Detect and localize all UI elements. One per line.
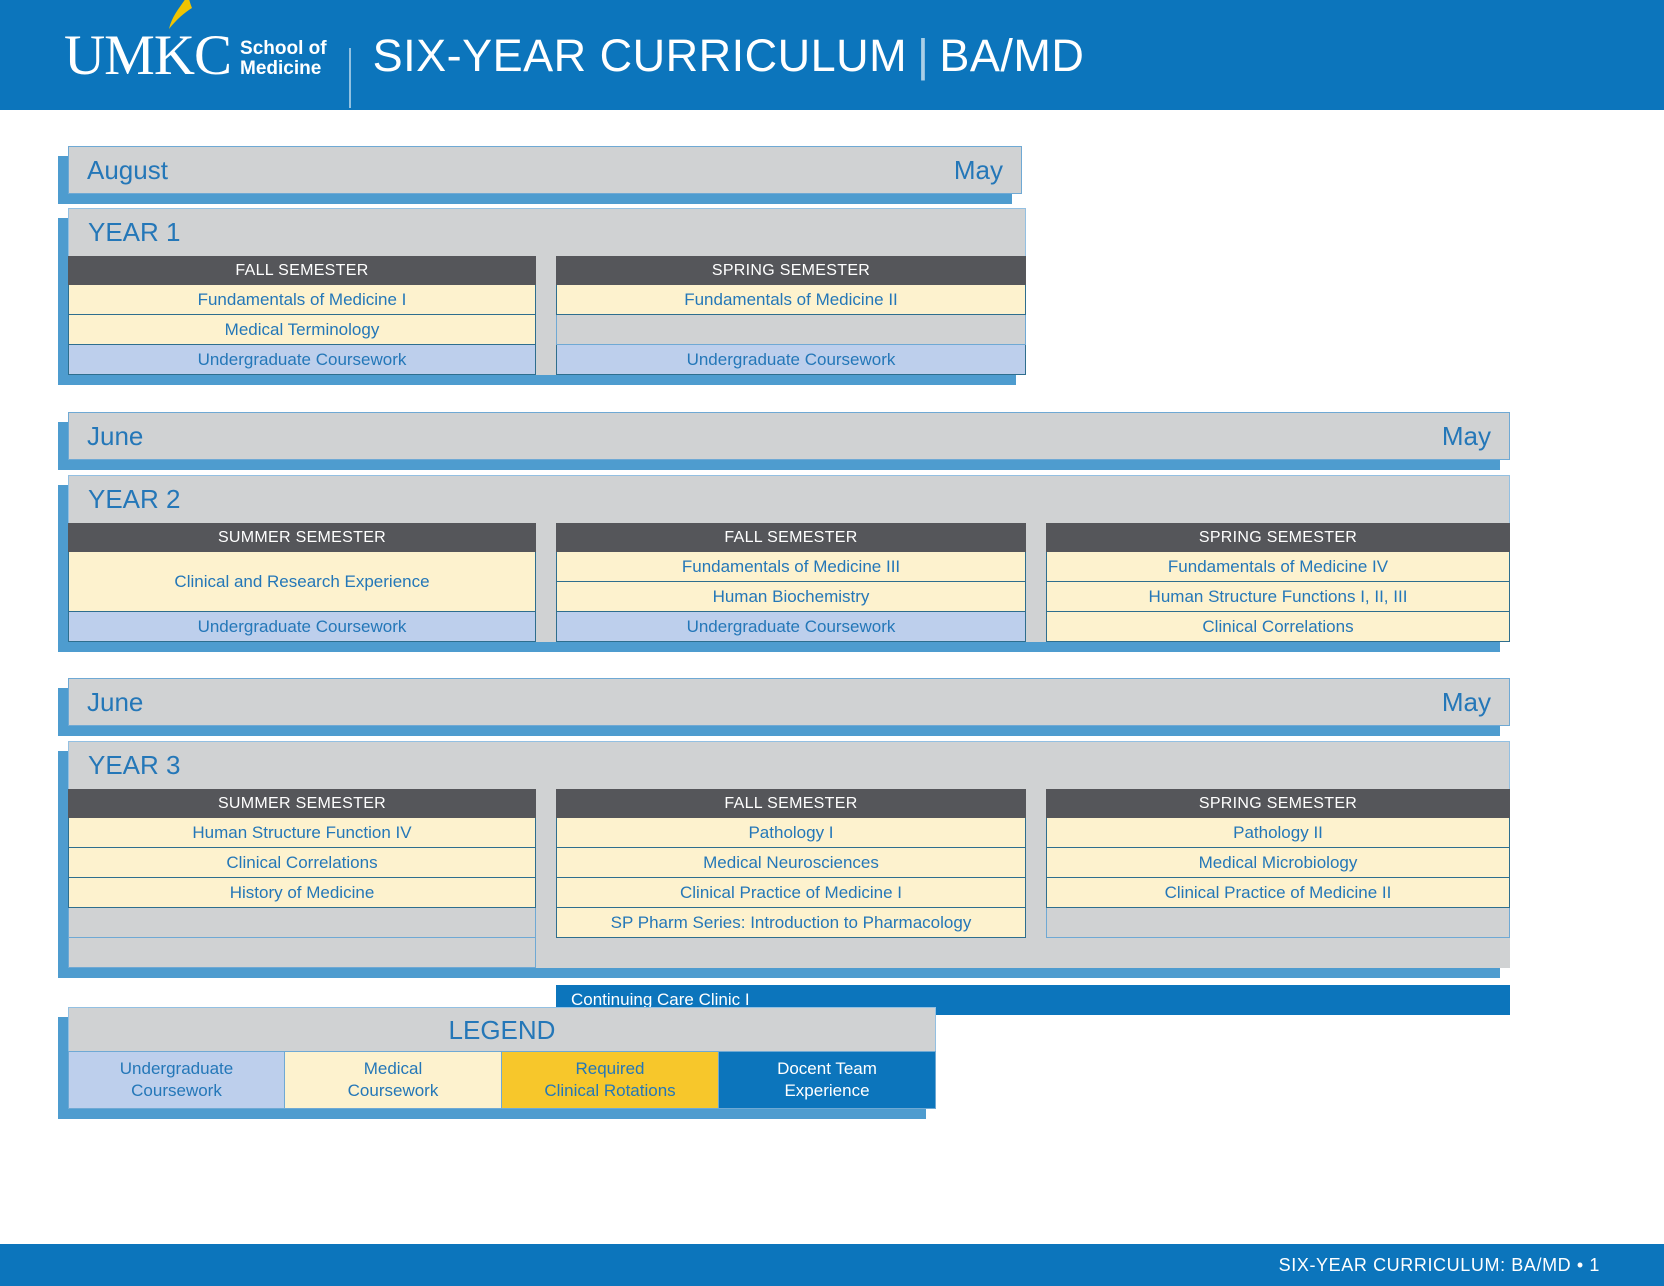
course-cell: Fundamentals of Medicine III [556,552,1026,582]
course-cell: Clinical and Research Experience [68,552,536,612]
year-label-header: YEAR 3 [68,741,1510,789]
legend-swatch-row: Undergraduate Coursework Medical Coursew… [68,1051,936,1109]
legend-item-docent-team-experience: Docent Team Experience [719,1051,936,1109]
semester-header: SPRING SEMESTER [556,256,1026,285]
legend-label-line1: Medical [364,1058,423,1080]
logo-subtitle: School of Medicine [240,39,327,79]
legend-label-line2: Clinical Rotations [544,1080,675,1102]
course-cell: Human Biochemistry [556,582,1026,612]
semester-column-spring: SPRING SEMESTER Fundamentals of Medicine… [556,256,1026,375]
legend-title: LEGEND [68,1007,936,1051]
header-divider [349,48,351,108]
page-title-separator: | [907,30,939,81]
legend-item-required-clinical-rotations: Required Clinical Rotations [502,1051,719,1109]
timeline-bar-year-1: August May [68,146,1022,194]
course-cell: Undergraduate Coursework [556,612,1026,642]
legend-item-undergraduate-coursework: Undergraduate Coursework [68,1051,285,1109]
course-cell: Medical Microbiology [1046,848,1510,878]
logo-subtitle-line1: School of [240,39,327,59]
year-label: YEAR 1 [88,217,181,248]
course-cell: Fundamentals of Medicine I [68,285,536,315]
semester-column-summer: SUMMER SEMESTER Human Structure Function… [68,789,536,968]
legend-label-line1: Docent Team [777,1058,877,1080]
timeline-start-month: June [87,421,143,452]
page-header: UMKC School of Medicine SIX-YEAR CURRICU… [0,0,1664,110]
semester-header: SUMMER SEMESTER [68,523,536,552]
course-cell: Pathology II [1046,818,1510,848]
page-title: SIX-YEAR CURRICULUM|BA/MD [373,33,1085,78]
column-gap [1026,523,1046,642]
course-cell: Medical Terminology [68,315,536,345]
legend-label-line1: Required [576,1058,645,1080]
legend-label-line2: Experience [784,1080,869,1102]
column-gap [536,789,556,968]
semester-header: FALL SEMESTER [556,789,1026,818]
page-title-main: SIX-YEAR CURRICULUM [373,30,908,81]
legend-label-line1: Undergraduate [120,1058,233,1080]
column-gap [536,523,556,642]
semester-column-spring: SPRING SEMESTER Fundamentals of Medicine… [1046,523,1510,642]
empty-cell [1046,908,1510,938]
semester-columns: SUMMER SEMESTER Clinical and Research Ex… [68,523,1510,642]
year-label-header: YEAR 1 [68,208,1026,256]
semester-header: FALL SEMESTER [68,256,536,285]
year-label-header: YEAR 2 [68,475,1510,523]
empty-cell [556,315,1026,345]
semester-column-summer: SUMMER SEMESTER Clinical and Research Ex… [68,523,536,642]
column-gap [1026,789,1046,968]
page-title-suffix: BA/MD [939,30,1084,81]
course-cell: Clinical Practice of Medicine II [1046,878,1510,908]
logo-umkc-text: UMKC [64,27,231,84]
year-block-1: YEAR 1 FALL SEMESTER Fundamentals of Med… [68,208,1026,375]
course-cell: Pathology I [556,818,1026,848]
legend-item-medical-coursework: Medical Coursework [285,1051,502,1109]
year-label: YEAR 3 [88,750,181,781]
semester-column-spring: SPRING SEMESTER Pathology II Medical Mic… [1046,789,1510,968]
legend-label-line2: Coursework [131,1080,222,1102]
course-cell: Fundamentals of Medicine IV [1046,552,1510,582]
semester-header: FALL SEMESTER [556,523,1026,552]
course-cell: Medical Neurosciences [556,848,1026,878]
umkc-logo: UMKC School of Medicine [64,27,327,84]
course-cell: Clinical Correlations [1046,612,1510,642]
course-cell: Undergraduate Coursework [556,345,1026,375]
timeline-end-month: May [1442,421,1491,452]
course-cell: Clinical Correlations [68,848,536,878]
semester-column-fall: FALL SEMESTER Pathology I Medical Neuros… [556,789,1026,968]
course-cell: Human Structure Functions I, II, III [1046,582,1510,612]
course-cell: SP Pharm Series: Introduction to Pharmac… [556,908,1026,938]
legend-label-line2: Coursework [348,1080,439,1102]
course-cell: History of Medicine [68,878,536,908]
semester-columns: SUMMER SEMESTER Human Structure Function… [68,789,1510,968]
year-block-3: YEAR 3 SUMMER SEMESTER Human Structure F… [68,741,1510,968]
timeline-bar-year-3: June May [68,678,1510,726]
logo-subtitle-line2: Medicine [240,59,327,79]
footer-text: SIX-YEAR CURRICULUM: BA/MD • 1 [1279,1255,1600,1276]
timeline-start-month: August [87,155,168,186]
timeline-end-month: May [954,155,1003,186]
column-gap [536,256,556,375]
course-cell: Human Structure Function IV [68,818,536,848]
semester-columns: FALL SEMESTER Fundamentals of Medicine I… [68,256,1026,375]
course-cell: Undergraduate Coursework [68,345,536,375]
semester-column-fall: FALL SEMESTER Fundamentals of Medicine I… [68,256,536,375]
flame-icon [168,0,194,35]
curriculum-page: UMKC School of Medicine SIX-YEAR CURRICU… [0,0,1664,1286]
semester-header: SUMMER SEMESTER [68,789,536,818]
semester-header: SPRING SEMESTER [1046,523,1510,552]
empty-cell [68,938,536,968]
course-cell: Undergraduate Coursework [68,612,536,642]
semester-column-fall: FALL SEMESTER Fundamentals of Medicine I… [556,523,1026,642]
timeline-bar-year-2: June May [68,412,1510,460]
legend-block: LEGEND Undergraduate Coursework Medical … [68,1007,936,1109]
course-cell: Clinical Practice of Medicine I [556,878,1026,908]
year-block-2: YEAR 2 SUMMER SEMESTER Clinical and Rese… [68,475,1510,642]
page-footer: SIX-YEAR CURRICULUM: BA/MD • 1 [0,1244,1664,1286]
empty-cell [68,908,536,938]
timeline-end-month: May [1442,687,1491,718]
course-cell: Fundamentals of Medicine II [556,285,1026,315]
year-label: YEAR 2 [88,484,181,515]
timeline-start-month: June [87,687,143,718]
semester-header: SPRING SEMESTER [1046,789,1510,818]
